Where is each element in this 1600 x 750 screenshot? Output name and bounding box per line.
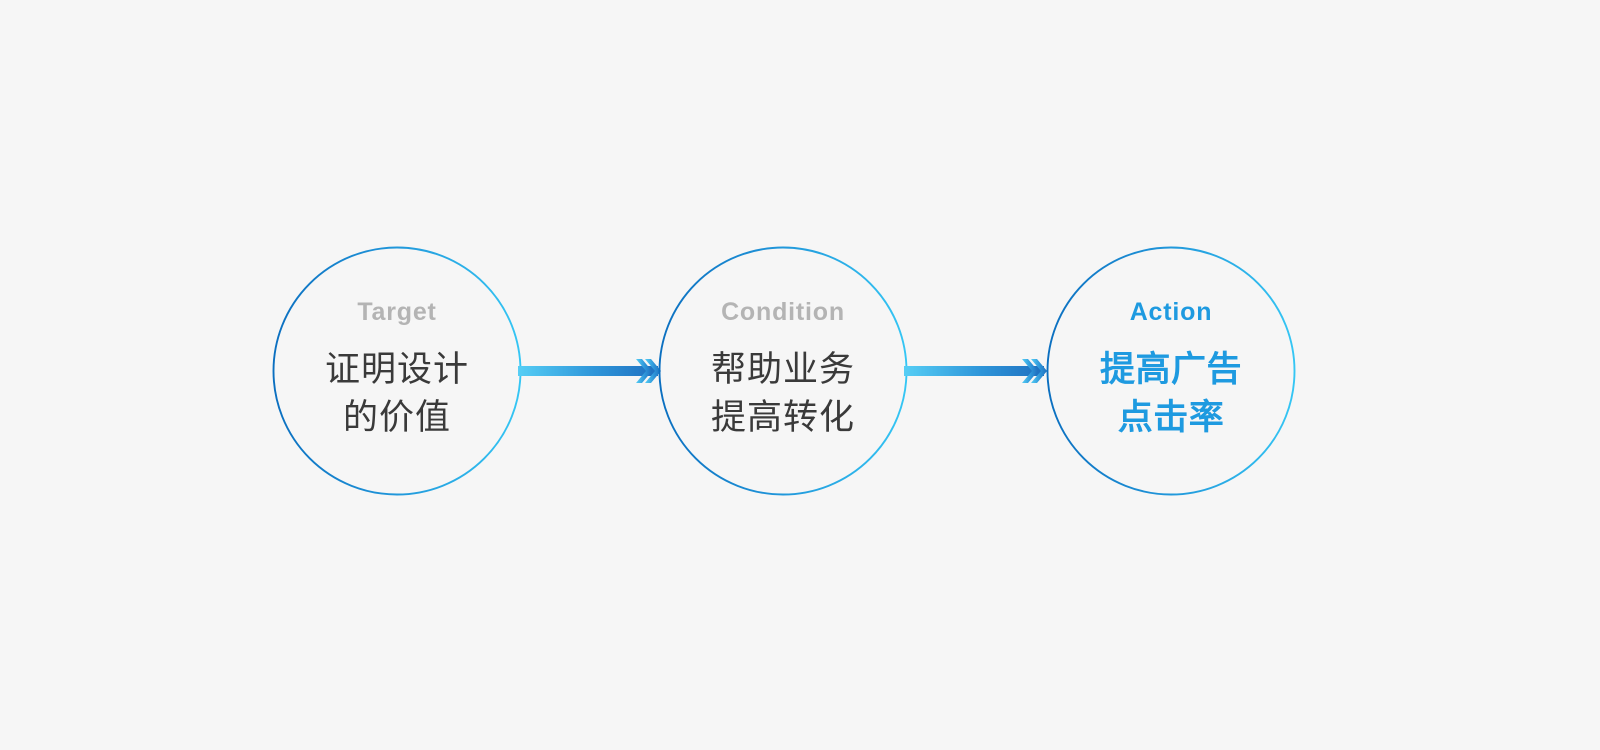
flow-node-kicker: Target — [357, 300, 436, 325]
flow-node-content: Condition 帮助业务 提高转化 — [658, 246, 908, 496]
flow-node-kicker: Action — [1130, 300, 1213, 325]
flow-node-text-line: 提高转化 — [711, 394, 855, 442]
flow-row: Target 证明设计 的价值 — [0, 0, 1600, 750]
flow-node-action[interactable]: Action 提高广告 点击率 — [1046, 246, 1296, 496]
flow-node-text: 帮助业务 提高转化 — [711, 346, 855, 443]
flow-node-text: 提高广告 点击率 — [1100, 346, 1242, 443]
arrow-connector-icon — [904, 354, 1050, 388]
flow-node-text: 证明设计 的价值 — [325, 346, 469, 443]
flow-node-condition[interactable]: Condition 帮助业务 提高转化 — [658, 246, 908, 496]
flow-node-kicker: Condition — [721, 300, 845, 325]
arrow-connector-icon — [518, 354, 664, 388]
flow-node-text-line: 证明设计 — [325, 346, 469, 394]
flow-node-text-line: 点击率 — [1100, 394, 1242, 442]
flow-node-text-line: 帮助业务 — [711, 346, 855, 394]
diagram-canvas: Target 证明设计 的价值 — [0, 0, 1600, 750]
flow-node-target[interactable]: Target 证明设计 的价值 — [272, 246, 522, 496]
flow-node-text-line: 的价值 — [325, 394, 469, 442]
flow-node-text-line: 提高广告 — [1100, 346, 1242, 394]
flow-node-content: Action 提高广告 点击率 — [1046, 246, 1296, 496]
flow-node-content: Target 证明设计 的价值 — [272, 246, 522, 496]
